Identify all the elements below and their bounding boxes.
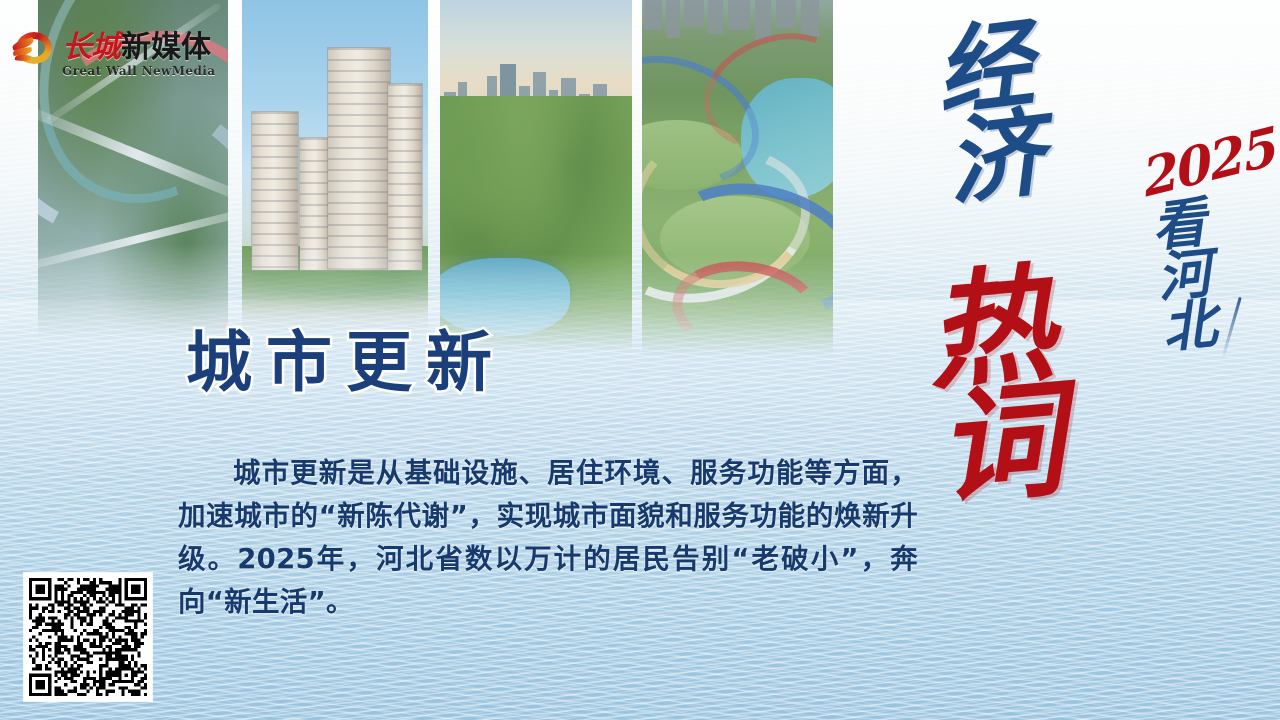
lockup-title-keyword: 热词 — [914, 257, 1060, 556]
brush-stroke-decoration — [1221, 297, 1242, 359]
logo-chinese-text: 长城 新媒体 — [62, 33, 211, 63]
lockup-year: 2025 — [1141, 121, 1279, 204]
photo-landscaped-greenway — [642, 0, 833, 356]
photo-residential-towers — [242, 0, 428, 332]
logo-english-text: Great Wall NewMedia — [62, 64, 215, 78]
lockup-title-main: 经济 — [924, 13, 1041, 233]
logo-text-changcheng: 长城 — [62, 33, 120, 63]
brand-logo[interactable]: 长城 新媒体 Great Wall NewMedia — [12, 28, 211, 68]
qr-code-canvas — [29, 578, 147, 696]
great-wall-swirl-icon — [12, 28, 58, 68]
page-title: 城市更新 — [186, 330, 506, 396]
poster-canvas: 长城 新媒体 Great Wall NewMedia 城市更新 城市更新是从基础… — [0, 0, 1280, 720]
qr-code[interactable] — [24, 573, 152, 701]
campaign-lockup: 经济 热词 2025 看河北 — [930, 0, 1280, 600]
lockup-subtitle: 看河北 — [1145, 194, 1215, 378]
logo-text-xinmeiti: 新媒体 — [121, 33, 211, 63]
body-paragraph: 城市更新是从基础设施、居住环境、服务功能等方面，加速城市的“新陈代谢”，实现城市… — [178, 452, 918, 624]
photo-city-skyline-park — [440, 0, 632, 352]
